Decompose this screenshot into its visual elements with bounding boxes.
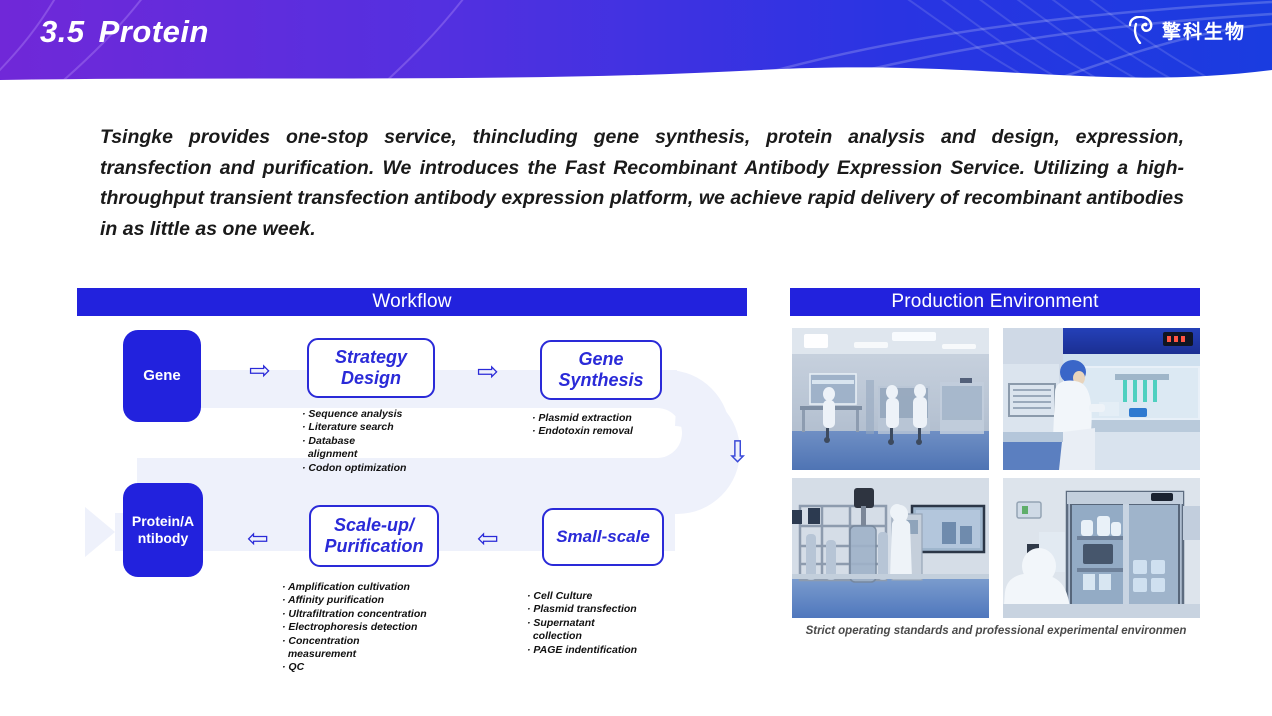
bullets-gene-synthesis: Plasmid extractionEndotoxin removal	[532, 412, 633, 439]
bullet-item: Amplification cultivation	[282, 581, 427, 594]
node-strategy-design-label: Strategy Design	[335, 347, 407, 389]
photo-incubator-cabinet-technician	[1003, 478, 1200, 618]
photo-bioreactor-skid-cleanroom	[792, 478, 989, 618]
bullet-item: Endotoxin removal	[532, 425, 633, 438]
logo-text: 擎科生物	[1162, 17, 1246, 44]
bullet-item: alignment	[302, 448, 406, 461]
bullet-item: measurement	[282, 648, 427, 661]
arrow-scaleup-to-protein: ⇦	[247, 525, 269, 551]
node-scale-up-label: Scale-up/ Purification	[324, 515, 423, 557]
arrow-gene-to-strategy: ⇨	[249, 357, 271, 383]
bullet-item: Affinity purification	[282, 594, 427, 607]
bullet-item: Ultrafiltration concentration	[282, 608, 427, 621]
bullet-item: collection	[527, 630, 637, 643]
bullet-item: Concentration	[282, 635, 427, 648]
node-protein-antibody[interactable]: Protein/A ntibody	[123, 483, 203, 577]
arrow-small-to-scaleup: ⇦	[477, 525, 499, 551]
node-gene-label: Gene	[143, 367, 181, 385]
production-photo-grid	[792, 328, 1202, 618]
production-panel-title: Production Environment	[790, 288, 1200, 316]
bullet-item: QC	[282, 661, 427, 674]
bullets-strategy-design: Sequence analysisLiterature searchDataba…	[302, 408, 406, 475]
production-caption: Strict operating standards and professio…	[790, 624, 1202, 639]
workflow-panel-title: Workflow	[77, 288, 747, 316]
bullets-small-scale: Cell CulturePlasmid transfectionSupernat…	[527, 590, 637, 657]
workflow-diagram: Gene ⇨ Strategy Design ⇨ Gene Synthesis …	[77, 320, 767, 690]
photo-biosafety-cabinet-technician	[1003, 328, 1200, 470]
arrow-strategy-to-synthesis: ⇨	[477, 358, 499, 384]
node-gene-synthesis[interactable]: Gene Synthesis	[540, 340, 662, 400]
node-strategy-design[interactable]: Strategy Design	[307, 338, 435, 398]
bullet-item: PAGE indentification	[527, 644, 637, 657]
bullet-item: Sequence analysis	[302, 408, 406, 421]
page-title: 3.5 Protein	[40, 14, 209, 50]
node-small-scale[interactable]: Small-scale	[542, 508, 664, 566]
bullets-scale-up: Amplification cultivationAffinity purifi…	[282, 581, 427, 675]
node-gene[interactable]: Gene	[123, 330, 201, 422]
brand-logo: 擎科生物	[1127, 16, 1246, 44]
node-protein-antibody-label: Protein/A ntibody	[132, 513, 194, 546]
arrow-row-transition: ⇩	[725, 438, 750, 468]
section-title: Protein	[99, 14, 209, 50]
bullet-item: Codon optimization	[302, 462, 406, 475]
node-gene-synthesis-label: Gene Synthesis	[558, 349, 643, 391]
bullet-item: Electrophoresis detection	[282, 621, 427, 634]
bullet-item: Supernatant	[527, 617, 637, 630]
node-small-scale-label: Small-scale	[556, 527, 650, 547]
page-header: 3.5 Protein 擎科生物	[0, 0, 1272, 92]
bullet-item: Database	[302, 435, 406, 448]
bullet-item: Cell Culture	[527, 590, 637, 603]
section-number: 3.5	[40, 14, 85, 50]
tsingke-logo-icon	[1127, 16, 1153, 44]
node-scale-up-purification[interactable]: Scale-up/ Purification	[309, 505, 439, 567]
bullet-item: Plasmid transfection	[527, 603, 637, 616]
bullet-item: Literature search	[302, 421, 406, 434]
bullet-item: Plasmid extraction	[532, 412, 633, 425]
photo-cleanroom-lab-workstations	[792, 328, 989, 470]
intro-paragraph: Tsingke provides one-stop service, thinc…	[100, 122, 1184, 244]
